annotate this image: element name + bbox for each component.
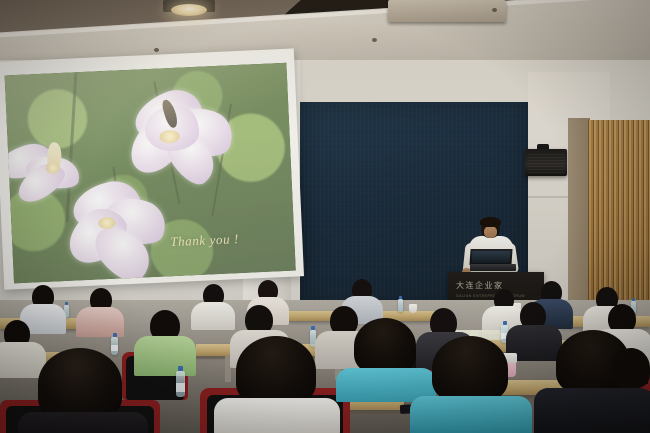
ceiling-downlight-icon [171, 4, 207, 16]
audience-head [38, 348, 122, 420]
audience-torso [134, 336, 196, 376]
speaker-grill [528, 152, 564, 173]
audience-head [236, 336, 316, 406]
ceiling-sprinkler-icon [372, 38, 377, 42]
audience-head [354, 318, 416, 374]
presenter-laptop-lid [469, 249, 512, 265]
paper-cup [409, 304, 417, 313]
audience-torso [18, 412, 148, 433]
presenter-laptop-base [470, 264, 516, 271]
water-bottle [111, 337, 118, 355]
ceiling-sprinkler-icon [492, 8, 497, 12]
wood-panel-edge [568, 118, 590, 330]
lecture-hall-photo: Thank you ! 大连企业家 DALIAN ENTREPRENEUR FO… [0, 0, 650, 433]
projected-slide: Thank you ! [5, 63, 296, 284]
bottle-cap [178, 366, 183, 371]
bottle-cap [113, 333, 117, 337]
bottle-cap [503, 321, 507, 325]
podium-subtitle-text: DALIAN ENTREPRENEUR FORUM [456, 294, 525, 298]
audience-torso [534, 388, 650, 433]
slide-flower-center [45, 163, 60, 174]
ceiling-sprinkler-icon [154, 48, 159, 52]
podium-title-text: 大连企业家 [456, 280, 504, 291]
laptop-screen [472, 251, 511, 263]
bottle-cap [632, 298, 635, 301]
audience-head [612, 348, 650, 388]
projection-screen: Thank you ! [0, 48, 304, 289]
slide-thank-you-text: Thank you ! [170, 231, 239, 250]
presenter-face [484, 226, 497, 238]
bottle-cap [399, 296, 402, 299]
bottle-cap [311, 326, 315, 330]
water-bottle [398, 299, 403, 312]
audience-torso [191, 302, 235, 330]
ceiling-projector [388, 0, 506, 22]
audience-torso [410, 396, 532, 433]
audience-head [432, 336, 508, 402]
bottle-label [176, 383, 185, 392]
bottle-label [111, 345, 118, 351]
bottle-cap [65, 302, 68, 305]
presenter-hair [480, 217, 501, 227]
wall-mounted-speaker-icon [525, 149, 567, 176]
audience-torso [214, 398, 340, 433]
water-bottle [176, 371, 185, 397]
